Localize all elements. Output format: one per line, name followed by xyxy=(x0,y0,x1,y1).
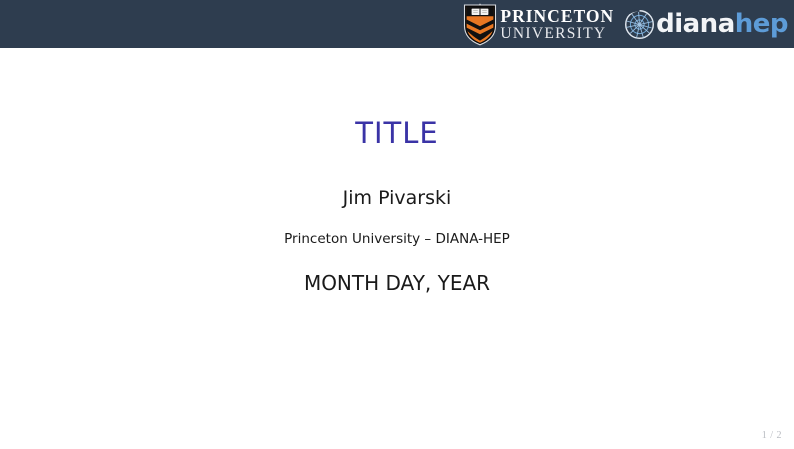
page-number-indicator: 1 / 2 xyxy=(762,430,782,441)
slide-title: TITLE xyxy=(0,116,794,150)
slide-author: Jim Pivarski xyxy=(0,186,794,210)
diana-hep-logo: dianahep xyxy=(624,2,788,46)
diana-detector-icon xyxy=(624,9,655,40)
logo-group: PRINCETON UNIVERSITY xyxy=(463,0,788,48)
hep-word: hep xyxy=(735,9,788,39)
slide-institute: Princeton University – DIANA-HEP xyxy=(0,230,794,248)
princeton-line-2: UNIVERSITY xyxy=(500,25,614,42)
diana-hep-wordmark: dianahep xyxy=(656,10,788,38)
princeton-university-logo: PRINCETON UNIVERSITY xyxy=(463,2,614,46)
princeton-wordmark: PRINCETON UNIVERSITY xyxy=(500,7,614,42)
princeton-shield-icon xyxy=(463,3,497,46)
slide-header-bar: PRINCETON UNIVERSITY xyxy=(0,0,794,48)
slide-content-area: TITLE Jim Pivarski Princeton University … xyxy=(0,48,794,449)
slide-date: MONTH DAY, YEAR xyxy=(0,270,794,296)
diana-word: diana xyxy=(656,9,735,39)
princeton-line-1: PRINCETON xyxy=(500,7,614,25)
